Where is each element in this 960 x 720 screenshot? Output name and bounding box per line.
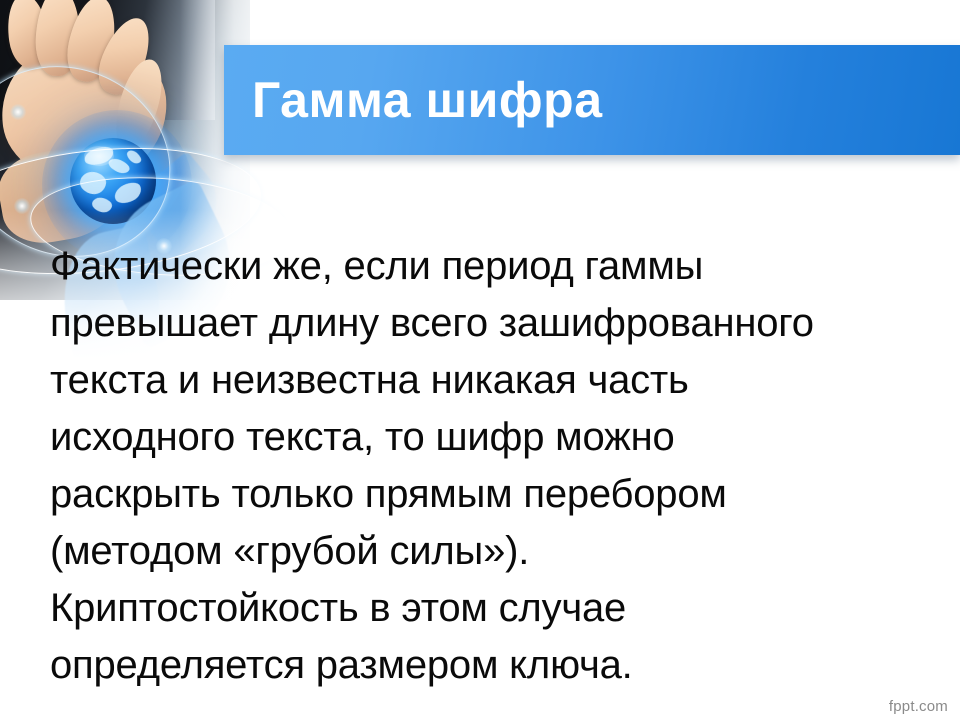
body-line: текста и неизвестна никакая часть <box>50 352 940 409</box>
body-line: превышает длину всего зашифрованного <box>50 295 940 352</box>
orbit-spark-3 <box>10 104 26 120</box>
watermark-label: fppt.com <box>889 698 948 715</box>
slide-title-bar: Гамма шифра <box>224 45 960 155</box>
slide-canvas: Гамма шифра Фактически же, если период г… <box>0 0 960 720</box>
slide-body-text: Фактически же, если период гаммы превыша… <box>50 238 940 694</box>
body-line: Криптостойкость в этом случае <box>50 580 940 637</box>
body-line: (методом «грубой силы»). <box>50 523 940 580</box>
body-line: исходного текста, то шифр можно <box>50 409 940 466</box>
page-title: Гамма шифра <box>252 71 603 129</box>
body-line: Фактически же, если период гаммы <box>50 238 940 295</box>
body-line: определяется размером ключа. <box>50 637 940 694</box>
body-line: раскрыть только прямым перебором <box>50 466 940 523</box>
